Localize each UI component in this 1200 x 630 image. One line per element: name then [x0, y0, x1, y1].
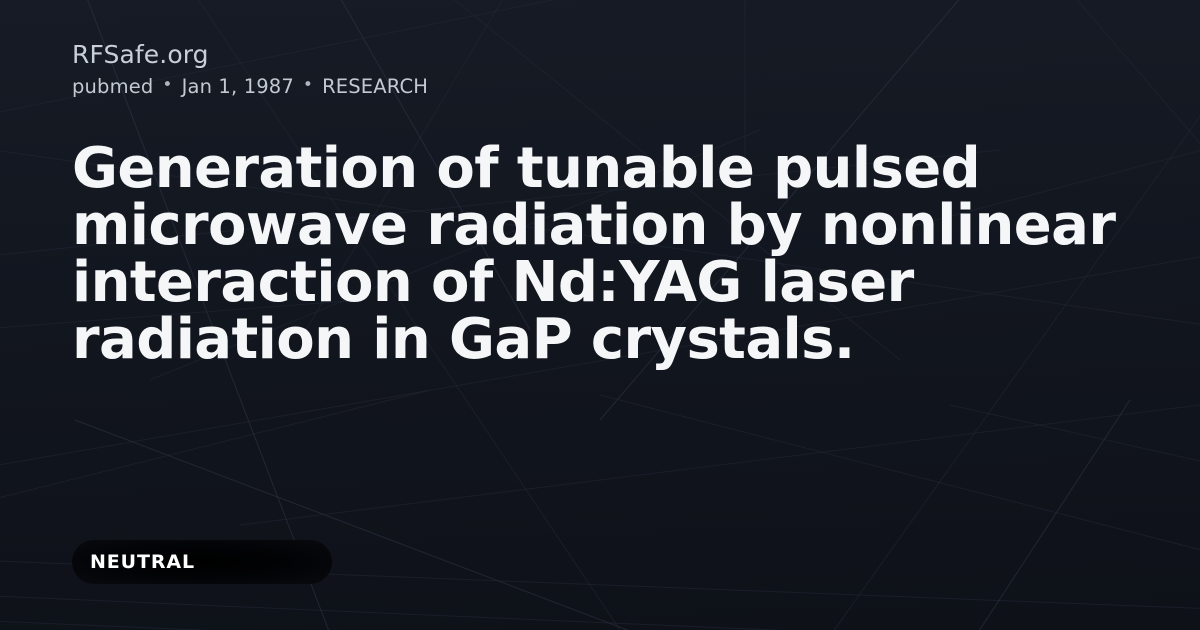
site-brand: RFSafe.org — [72, 40, 1128, 70]
status-badge: NEUTRAL — [72, 540, 332, 584]
meta-date: Jan 1, 1987 — [182, 75, 294, 98]
badge-row: NEUTRAL — [72, 540, 1128, 584]
article-meta: pubmed • Jan 1, 1987 • RESEARCH — [72, 75, 1128, 98]
card-content: RFSafe.org pubmed • Jan 1, 1987 • RESEAR… — [0, 0, 1200, 630]
meta-source: pubmed — [72, 75, 153, 98]
article-title: Generation of tunable pulsed microwave r… — [72, 140, 1128, 368]
meta-category: RESEARCH — [322, 75, 428, 98]
meta-separator-dot-2: • — [303, 75, 313, 95]
og-card: RFSafe.org pubmed • Jan 1, 1987 • RESEAR… — [0, 0, 1200, 630]
meta-separator-dot-1: • — [162, 75, 172, 95]
layout-spacer — [72, 368, 1128, 540]
